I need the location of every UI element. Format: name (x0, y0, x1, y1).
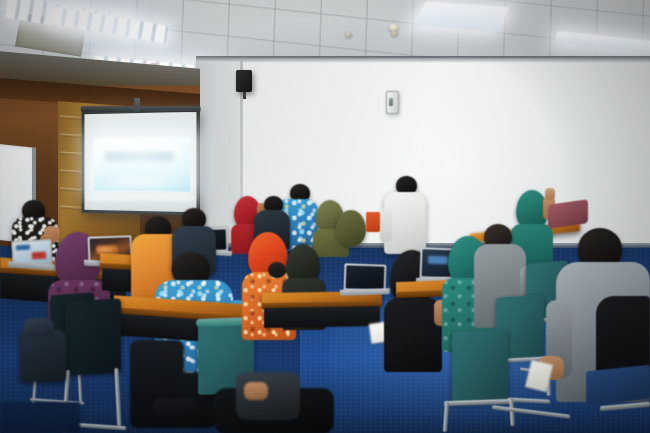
person-hand (545, 188, 555, 200)
speaker-bracket (243, 92, 246, 99)
projected-slide-title (105, 152, 174, 161)
sprinkler-icon-1 (345, 32, 352, 37)
wall-thermostat-display (389, 98, 393, 106)
laptop-screen-content (16, 245, 30, 251)
wall-ceiling-shadow (196, 56, 650, 63)
smoke-detector-icon (388, 24, 399, 31)
projected-slide-footer (86, 196, 194, 200)
laptop-screen-content (428, 256, 448, 265)
wall-speaker-icon (236, 70, 252, 92)
projection-screen-roller (81, 106, 201, 112)
backpack-on-floor (20, 330, 66, 382)
floor-foreground (0, 402, 80, 433)
desk-front-panel (264, 306, 380, 328)
person-shoe (152, 398, 198, 416)
held-card (366, 212, 380, 232)
laptop-screen-content (32, 252, 46, 260)
projector-mount-icon (134, 98, 140, 112)
laptop-screen (346, 265, 385, 289)
person-hand (244, 382, 268, 400)
person-head (268, 262, 286, 278)
chair-teal-right-3[interactable] (452, 329, 508, 404)
person-olive-hijab (336, 210, 366, 246)
person-arm (380, 208, 392, 242)
chair-blue-foreground[interactable] (586, 365, 650, 406)
meeting-room-photo (0, 0, 650, 433)
sprinkler-icon-2 (391, 31, 398, 36)
chair-empty-mid-left[interactable] (65, 299, 121, 376)
backpack-top (24, 318, 54, 336)
